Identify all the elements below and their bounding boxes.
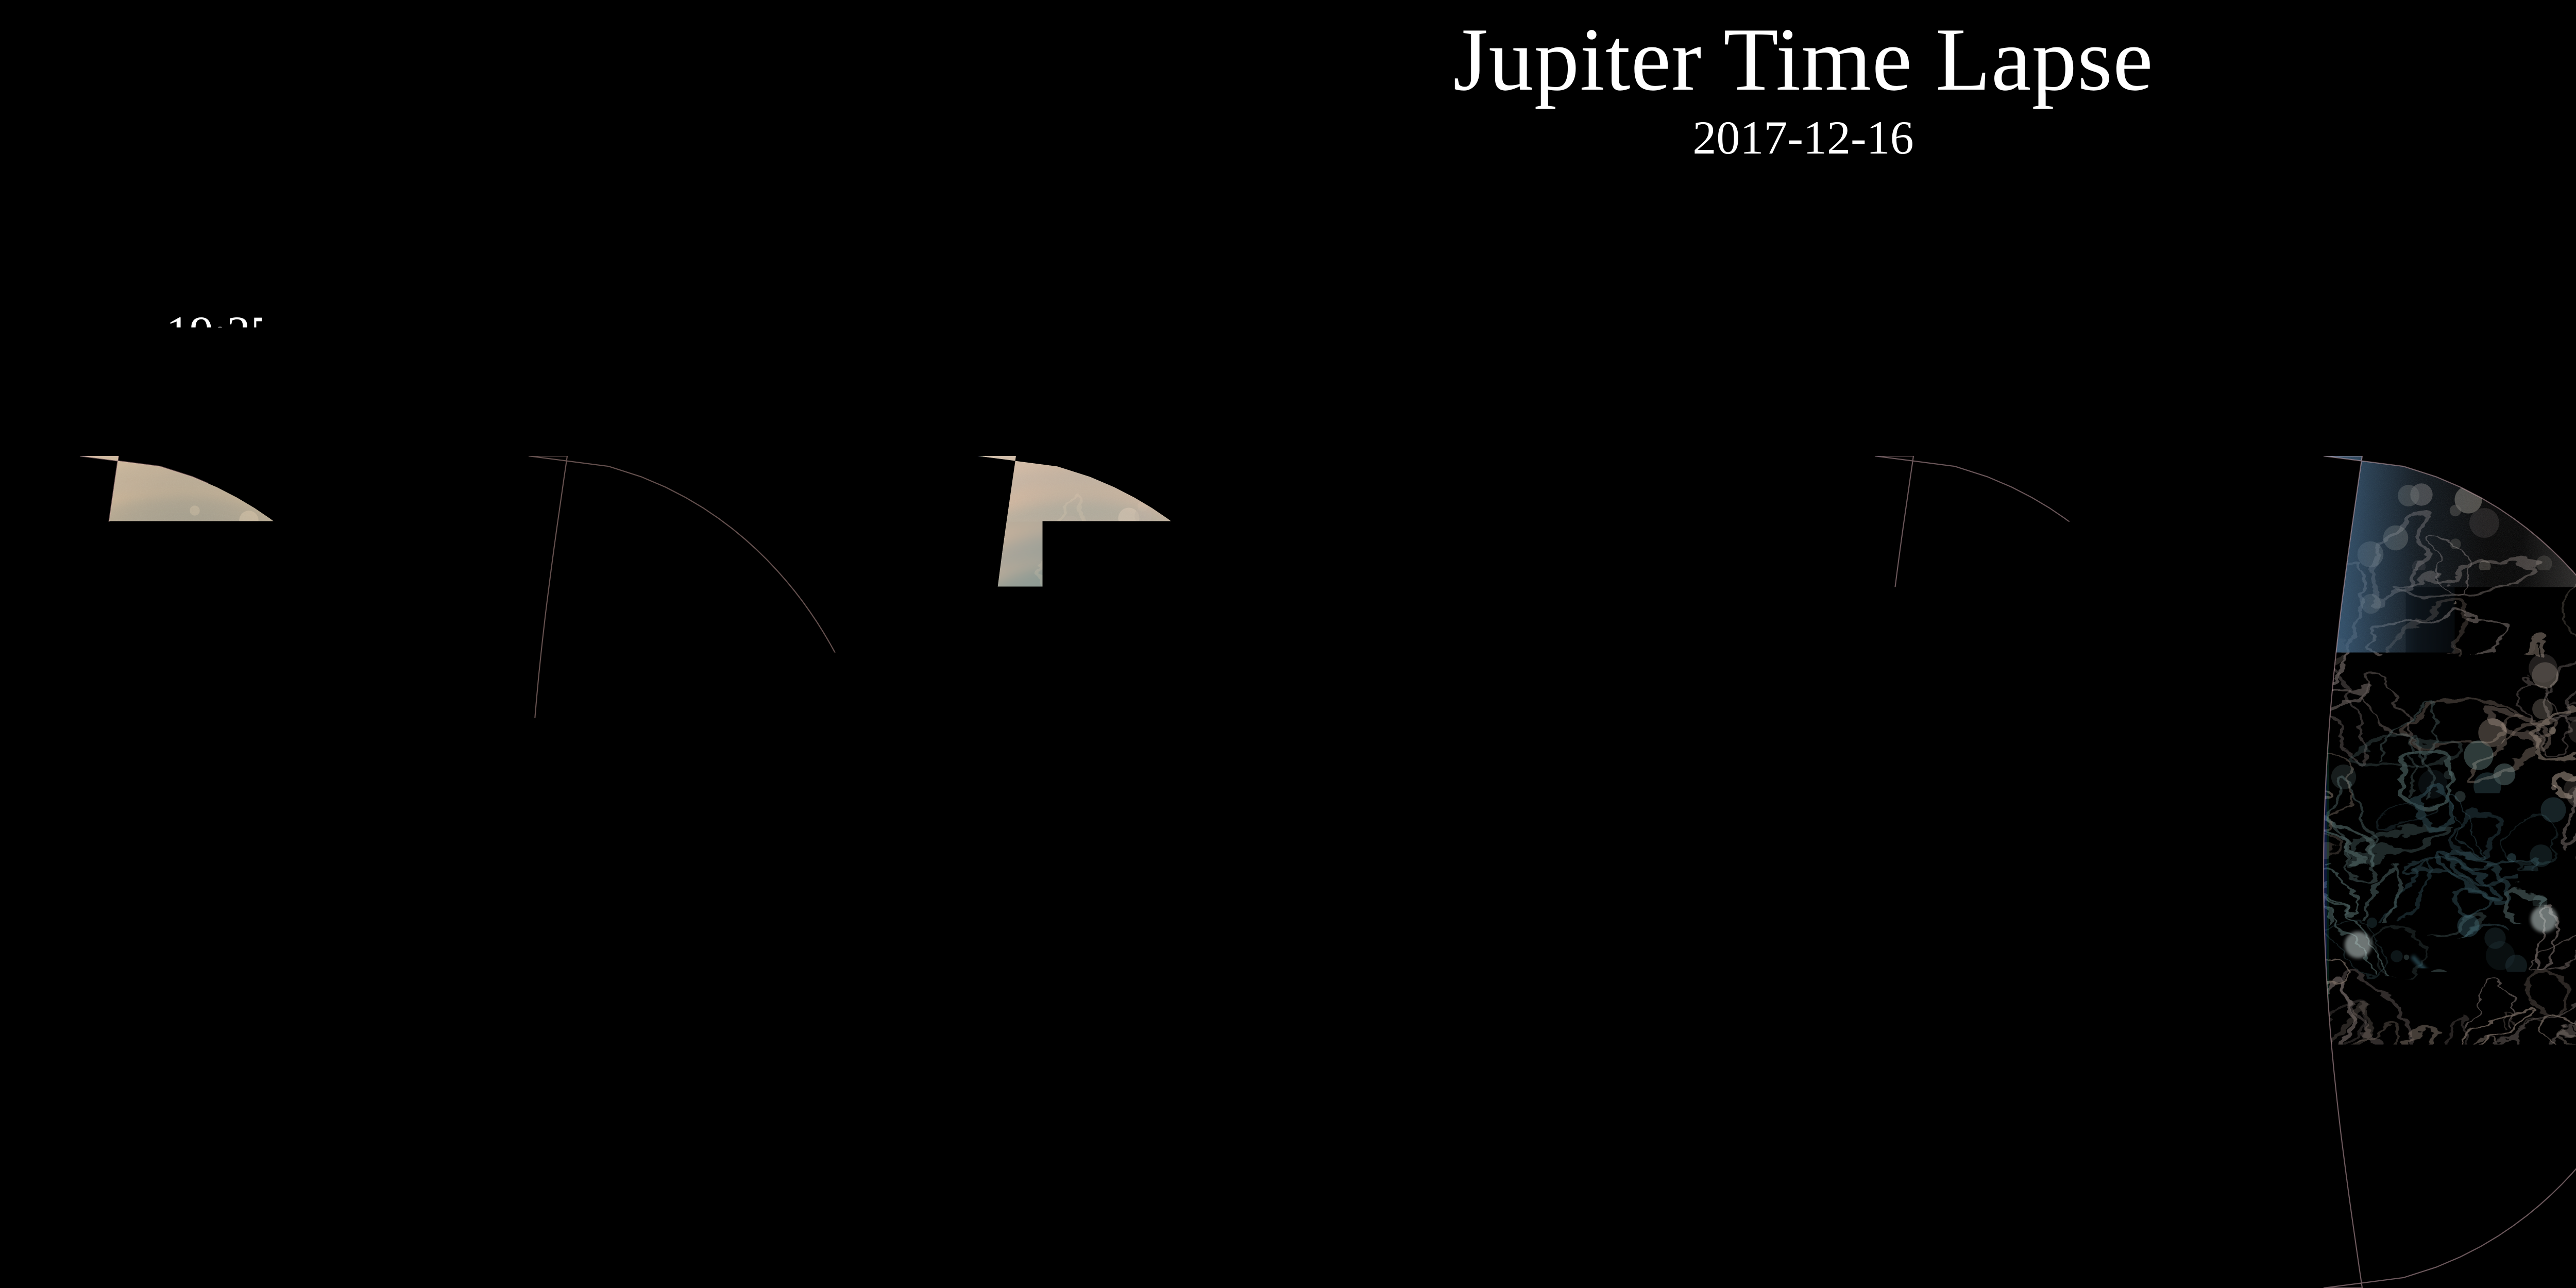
jupiter-disc-image <box>480 456 933 1288</box>
jupiter-frame: 20:01 UT <box>1826 309 2279 1288</box>
frame-timestamp-label: 19:52 UT <box>1377 309 1831 357</box>
page-title: Jupiter Time Lapse <box>0 14 2576 105</box>
frame-timestamp-label: 20:10 UT <box>2275 309 2576 357</box>
jupiter-disc-image <box>1377 456 1831 1288</box>
header: Jupiter Time Lapse 2017-12-16 <box>0 0 2576 161</box>
page-subtitle: 2017-12-16 <box>0 114 2576 161</box>
jupiter-frame: 19:25 UT <box>31 309 484 1288</box>
frame-timestamp-label: 19:43 UT <box>928 309 1382 357</box>
frame-timestamp-label: 19:34 UT <box>480 309 933 357</box>
jupiter-frame: 20:10 UT <box>2275 309 2576 1288</box>
time-lapse-frame-strip: 19:25 UT19:34 UT19:43 UT19:52 UT20:01 UT… <box>0 309 2576 1288</box>
jupiter-frame: 19:34 UT <box>480 309 933 1288</box>
frame-timestamp-label: 19:25 UT <box>31 309 484 357</box>
jupiter-disc-image <box>2275 456 2576 1288</box>
frame-timestamp-label: 20:01 UT <box>1826 309 2279 357</box>
jupiter-disc-image <box>1826 456 2279 1288</box>
jupiter-frame: 19:52 UT <box>1377 309 1831 1288</box>
jupiter-frame: 19:43 UT <box>928 309 1382 1288</box>
jupiter-disc-image <box>31 456 484 1288</box>
jupiter-disc-image <box>928 456 1382 1288</box>
